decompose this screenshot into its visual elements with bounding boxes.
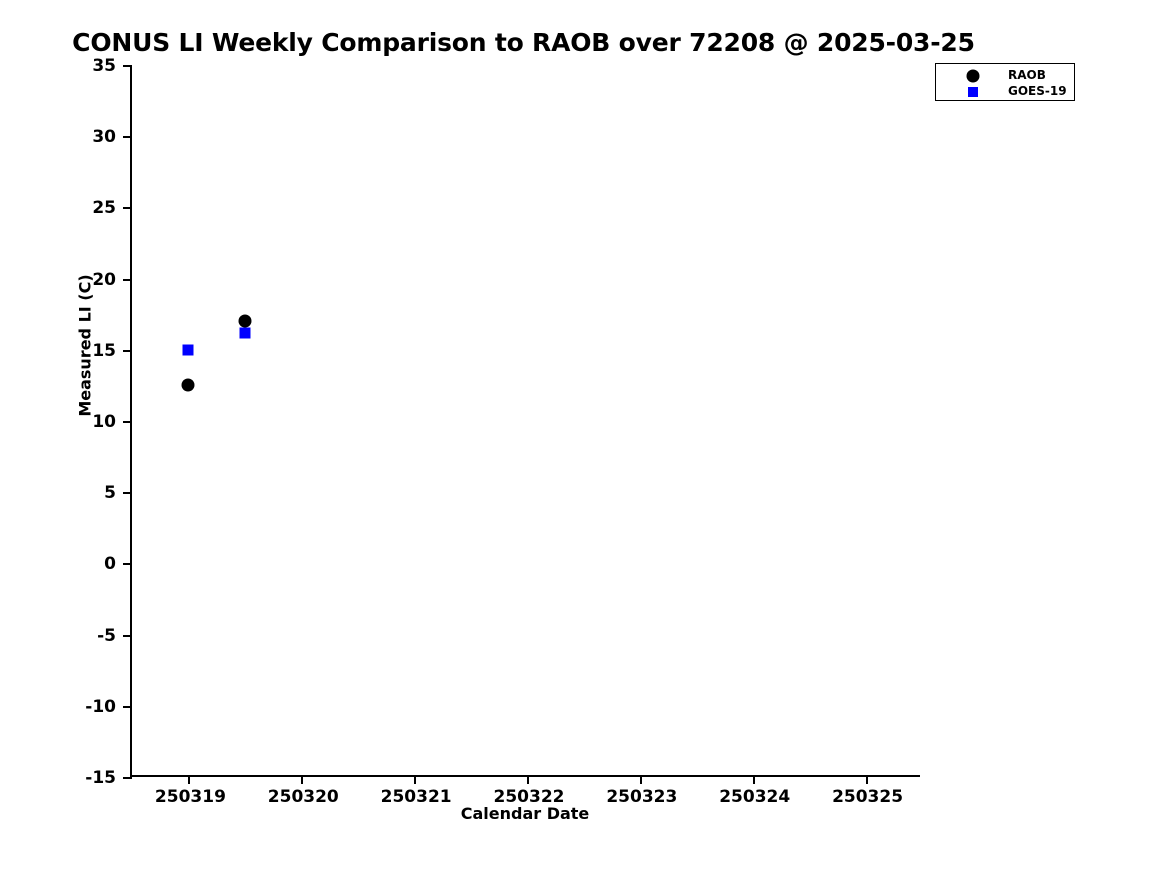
y-tick-label: 0 bbox=[104, 554, 116, 574]
chart-figure: CONUS LI Weekly Comparison to RAOB over … bbox=[0, 0, 1167, 875]
y-tick: 15 bbox=[123, 350, 132, 352]
chart-title: CONUS LI Weekly Comparison to RAOB over … bbox=[0, 28, 1047, 57]
y-tick: 0 bbox=[123, 563, 132, 565]
y-tick-label: -15 bbox=[85, 768, 116, 788]
y-tick-label: 15 bbox=[92, 341, 116, 361]
x-tick: 250321 bbox=[414, 775, 416, 784]
x-tick: 250323 bbox=[640, 775, 642, 784]
y-tick-label: -10 bbox=[85, 697, 116, 717]
plot-area: 35302520151050-5-10-15 25031925032025032… bbox=[130, 65, 920, 777]
y-tick: 10 bbox=[123, 421, 132, 423]
y-tick-label: 5 bbox=[104, 483, 116, 503]
data-point-goes-19 bbox=[183, 344, 194, 355]
legend-label: RAOB bbox=[1008, 68, 1046, 82]
data-point-goes-19 bbox=[239, 327, 250, 338]
y-tick: 25 bbox=[123, 207, 132, 209]
data-point-raob bbox=[182, 379, 195, 392]
y-tick: 30 bbox=[123, 136, 132, 138]
y-tick-label: 10 bbox=[92, 412, 116, 432]
y-tick: 35 bbox=[123, 65, 132, 67]
y-tick-label: -5 bbox=[97, 626, 116, 646]
x-tick: 250320 bbox=[301, 775, 303, 784]
y-axis-label: Measured LI (C) bbox=[76, 256, 95, 436]
y-tick: 5 bbox=[123, 492, 132, 494]
legend-label: GOES-19 bbox=[1008, 84, 1067, 98]
x-tick: 250319 bbox=[188, 775, 190, 784]
x-tick: 250322 bbox=[527, 775, 529, 784]
y-tick: -15 bbox=[123, 777, 132, 779]
y-tick: -5 bbox=[123, 635, 132, 637]
x-tick: 250325 bbox=[866, 775, 868, 784]
y-tick: 20 bbox=[123, 279, 132, 281]
chart-legend: RAOBGOES-19 bbox=[935, 63, 1075, 101]
x-axis-label: Calendar Date bbox=[130, 804, 920, 823]
y-tick-label: 35 bbox=[92, 56, 116, 76]
legend-entry: RAOB bbox=[936, 67, 1074, 84]
data-point-raob bbox=[238, 315, 251, 328]
y-tick-label: 25 bbox=[92, 198, 116, 218]
y-tick-label: 30 bbox=[92, 127, 116, 147]
legend-entry: GOES-19 bbox=[936, 83, 1074, 100]
y-tick: -10 bbox=[123, 706, 132, 708]
x-tick: 250324 bbox=[753, 775, 755, 784]
y-tick-label: 20 bbox=[92, 270, 116, 290]
